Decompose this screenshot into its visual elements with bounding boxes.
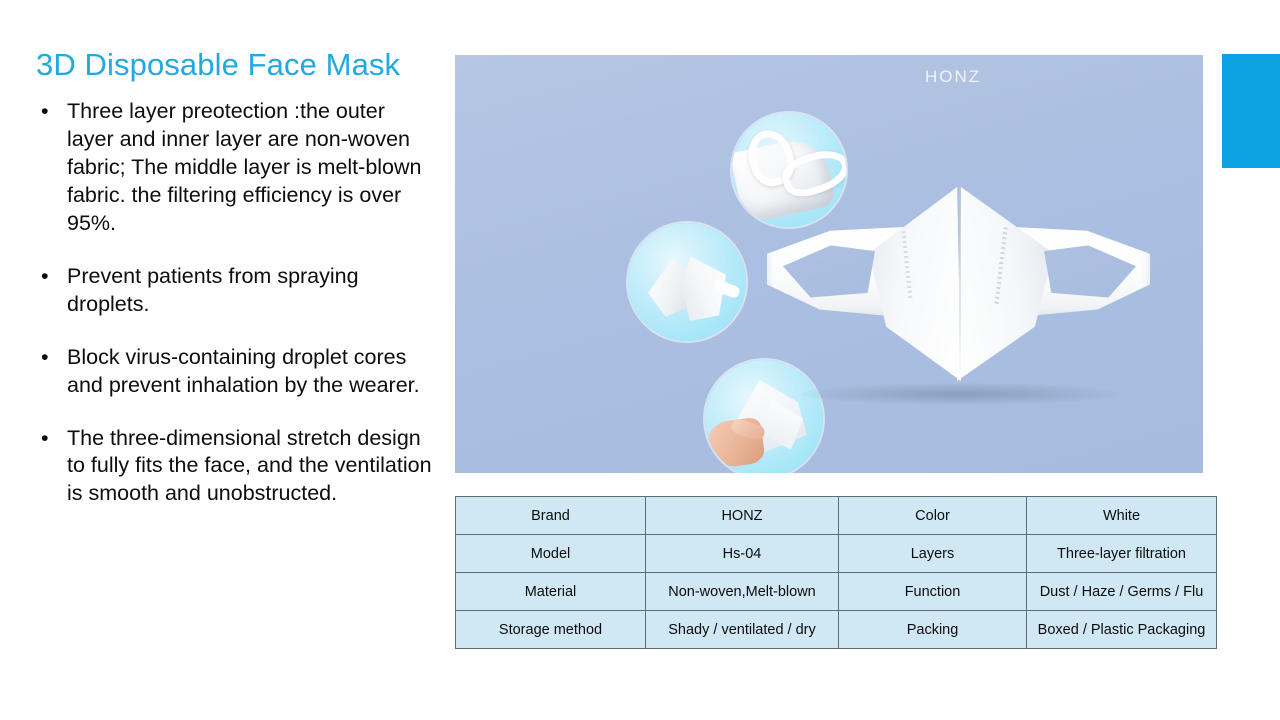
table-cell-key: Storage method — [456, 611, 646, 649]
list-item-text: The three-dimensional stretch design to … — [67, 426, 432, 506]
list-item-text: Block virus-containing droplet cores and… — [67, 345, 420, 397]
bullet-marker-icon: • — [41, 344, 49, 372]
list-item: • Prevent patients from spraying droplet… — [36, 263, 436, 319]
hero-mask-illustration — [761, 165, 1156, 415]
feature-bullet-list: • Three layer preotection :the outer lay… — [36, 98, 436, 508]
mask-drop-shadow — [801, 383, 1121, 405]
mask-center-seam — [959, 187, 961, 383]
bullet-marker-icon: • — [41, 425, 49, 453]
table-cell-key: Color — [839, 497, 1027, 535]
list-item: • Three layer preotection :the outer lay… — [36, 98, 436, 238]
mask-center-right-panel — [957, 187, 1057, 381]
list-item-text: Prevent patients from spraying droplets. — [67, 264, 359, 316]
table-cell-key: Model — [456, 535, 646, 573]
table-row: Model Hs-04 Layers Three-layer filtratio… — [456, 535, 1217, 573]
table-cell-key: Function — [839, 573, 1027, 611]
list-item: • The three-dimensional stretch design t… — [36, 425, 436, 509]
table-row: Storage method Shady / ventilated / dry … — [456, 611, 1217, 649]
text-column: 3D Disposable Face Mask • Three layer pr… — [36, 48, 436, 508]
table-cell-value: Hs-04 — [646, 535, 839, 573]
bullet-marker-icon: • — [41, 98, 49, 126]
list-item-text: Three layer preotection :the outer layer… — [67, 99, 422, 235]
page-title: 3D Disposable Face Mask — [36, 48, 436, 82]
table-cell-key: Brand — [456, 497, 646, 535]
table-cell-value: Dust / Haze / Germs / Flu — [1027, 573, 1217, 611]
product-photo: HONZ — [455, 55, 1203, 473]
specification-table: Brand HONZ Color White Model Hs-04 Layer… — [455, 496, 1217, 649]
table-cell-key: Packing — [839, 611, 1027, 649]
bullet-marker-icon: • — [41, 263, 49, 291]
table-cell-value: White — [1027, 497, 1217, 535]
table-cell-value: Shady / ventilated / dry — [646, 611, 839, 649]
table-cell-value: Boxed / Plastic Packaging — [1027, 611, 1217, 649]
mask-center-left-panel — [865, 187, 961, 381]
table-row: Brand HONZ Color White — [456, 497, 1217, 535]
table-cell-value: HONZ — [646, 497, 839, 535]
table-cell-value: Three-layer filtration — [1027, 535, 1217, 573]
table-cell-value: Non-woven,Melt-blown — [646, 573, 839, 611]
accent-rectangle — [1222, 54, 1280, 168]
table-cell-key: Material — [456, 573, 646, 611]
table-cell-key: Layers — [839, 535, 1027, 573]
photo-watermark: HONZ — [925, 67, 981, 87]
inset-3d-mask-icon — [628, 223, 746, 341]
list-item: • Block virus-containing droplet cores a… — [36, 344, 436, 400]
table-row: Material Non-woven,Melt-blown Function D… — [456, 573, 1217, 611]
